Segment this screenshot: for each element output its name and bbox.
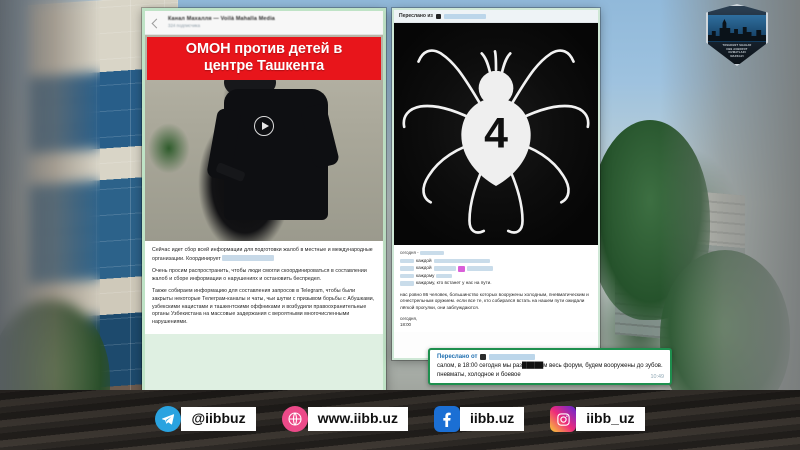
chat-line: каждой xyxy=(400,258,592,264)
channel-title: Канал Махалля — Voilà Mahalla Media xyxy=(168,17,275,23)
social-link-website[interactable]: www.iibb.uz xyxy=(282,406,408,432)
telegram-handle: @iibbuz xyxy=(181,407,255,431)
post-paragraph-1: Сейчас идет сбор всей информации для под… xyxy=(152,247,376,263)
post-paragraph-3: Также собираем информацию для составлени… xyxy=(152,288,376,326)
instagram-icon xyxy=(550,406,576,432)
message-time: 10:49 xyxy=(651,374,665,380)
chat-line-text: каждому, кто встанет у нас на пути. xyxy=(416,280,491,286)
chat-messages: сегодня - каждой каждой каждому каждому,… xyxy=(394,245,598,332)
redacted-text xyxy=(467,266,493,270)
video-thumbnail[interactable]: ОМОН против детей в центре Ташкента xyxy=(145,35,383,241)
redacted-text xyxy=(434,266,456,270)
website-icon xyxy=(282,406,308,432)
skyline-icon xyxy=(708,19,766,41)
chat-paragraph: нас ровно 86 человек, большинство которы… xyxy=(400,292,592,312)
chat-line-text: каждой xyxy=(416,265,432,271)
chat-line: каждому, кто встанет у нас на пути. xyxy=(400,280,592,286)
redacted-emoji xyxy=(458,266,465,272)
redacted-sender-name xyxy=(489,354,535,360)
redacted-prefix xyxy=(400,266,414,270)
forwarded-bubble-header: Переслано от xyxy=(437,354,664,360)
redacted-prefix xyxy=(400,259,414,263)
chat-line: каждому xyxy=(400,273,592,279)
facebook-handle: iibb.uz xyxy=(460,407,524,431)
redacted-channel-name xyxy=(444,14,486,19)
chat-line-text: каждому xyxy=(416,273,434,279)
social-link-instagram[interactable]: iibb_uz xyxy=(550,406,644,432)
channel-avatar-icon xyxy=(436,14,441,19)
social-link-facebook[interactable]: iibb.uz xyxy=(434,406,524,432)
shield-icon: TOSHKENT SHAHAR IIBB AXBOROT XIZMATLARI … xyxy=(706,4,768,66)
channel-subscribers: 324 подписчика xyxy=(168,24,275,29)
banner-line-2: центре Ташкента xyxy=(149,58,379,75)
chat-timestamp: сегодня, 18:00 xyxy=(400,316,592,328)
telegram-screenshot-left: Канал Махалля — Voilà Mahalla Media 324 … xyxy=(142,8,386,396)
chat-timestamp-value: 18:00 xyxy=(400,322,592,328)
facebook-icon xyxy=(434,406,460,432)
forwarded-from-label: Переслано от xyxy=(437,354,477,360)
telegram-screenshot-right: Переслано из 4 сегодня xyxy=(392,8,600,360)
forwarded-message-bubble: Переслано от салом, в 18:00 сегодня мы р… xyxy=(428,348,672,385)
telegram-icon xyxy=(155,406,181,432)
post-body-text: Сейчас идет сбор всей информации для под… xyxy=(145,241,383,334)
agency-badge: TOSHKENT SHAHAR IIBB AXBOROT XIZMATLARI … xyxy=(706,4,768,66)
chat-line-text: каждой xyxy=(416,258,432,264)
redacted-prefix xyxy=(400,281,414,285)
redacted-prefix xyxy=(400,274,414,278)
website-url: www.iibb.uz xyxy=(308,407,408,431)
redacted-username xyxy=(222,255,274,261)
social-links-row: @iibbuz www.iibb.uz iibb.uz iibb_uz xyxy=(0,405,800,433)
redacted-date xyxy=(420,251,444,255)
play-icon[interactable] xyxy=(254,116,274,136)
telegram-channel-header: Канал Махалля — Voilà Mahalla Media 324 … xyxy=(145,11,383,35)
forwarded-from-label: Переслано из xyxy=(399,13,433,19)
video-headline-banner: ОМОН против детей в центре Ташкента xyxy=(147,37,381,80)
instagram-handle: iibb_uz xyxy=(576,407,644,431)
badge-text-line-4: MARKAZI xyxy=(710,55,764,58)
redacted-text xyxy=(436,274,452,278)
chat-line: каждой xyxy=(400,265,592,271)
back-arrow-icon[interactable] xyxy=(151,18,161,28)
social-link-telegram[interactable]: @iibbuz xyxy=(155,406,255,432)
forwarded-bubble-text: салом, в 18:00 сегодня мы раз█████м весь… xyxy=(437,362,664,379)
post-paragraph-2: Очень просим распространить, чтобы люди … xyxy=(152,268,376,283)
chat-date-text: сегодня - xyxy=(400,250,419,255)
spider-patch-photo: 4 xyxy=(394,23,598,245)
sender-avatar-icon xyxy=(480,354,486,360)
spider-icon: 4 xyxy=(394,23,598,245)
spider-number: 4 xyxy=(484,109,508,157)
redacted-text xyxy=(434,259,490,263)
banner-line-1: ОМОН против детей в xyxy=(149,41,379,58)
forwarded-from-bar: Переслано из xyxy=(394,10,598,23)
chat-date: сегодня - xyxy=(400,250,592,255)
